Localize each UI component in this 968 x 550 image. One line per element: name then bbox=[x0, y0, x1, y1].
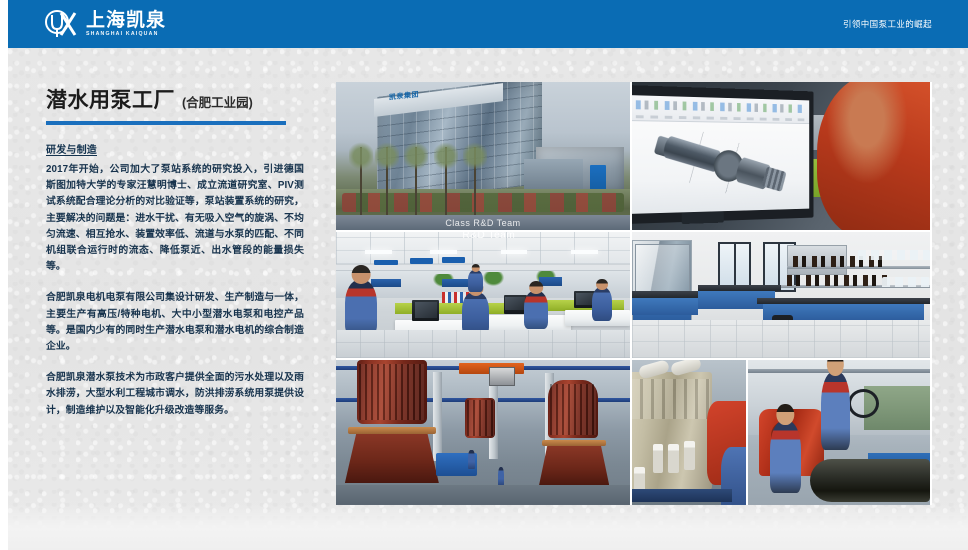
page-title: 潜水用泵工厂 (合肥工业园) bbox=[46, 84, 304, 114]
brand-text: 上海凯泉 SHANGHAI KAIQUAN bbox=[86, 11, 166, 37]
slide-page: 上海凯泉 SHANGHAI KAIQUAN 引领中国泵工业的崛起 潜水用泵工厂 … bbox=[0, 0, 968, 550]
paragraph-company: 合肥凯泉电机电泵有限公司集设计研发、生产制造与一体，主要生产有高压/特种电机、大… bbox=[46, 290, 304, 355]
office-worker bbox=[468, 270, 483, 293]
section-heading: 研发与制造 bbox=[46, 141, 304, 156]
page-body: 潜水用泵工厂 (合肥工业园) 研发与制造 2017年开始，公司加大了泵站系统的研… bbox=[8, 48, 968, 550]
office-worker bbox=[592, 287, 613, 321]
page-title-main: 潜水用泵工厂 bbox=[46, 84, 175, 114]
header-tagline: 引领中国泵工业的崛起 bbox=[843, 18, 968, 30]
paragraph-research: 2017年开始，公司加大了泵站系统的研究投入，引进德国斯图加特大学的专家汪慧明博… bbox=[46, 162, 304, 275]
page-title-sub: (合肥工业园) bbox=[182, 92, 253, 111]
bottom-gradient bbox=[8, 504, 968, 550]
office-worker bbox=[462, 292, 488, 335]
title-underline-rule bbox=[46, 121, 286, 125]
brand-logo[interactable]: 上海凯泉 SHANGHAI KAIQUAN bbox=[8, 9, 166, 39]
photo-laboratory bbox=[632, 232, 930, 358]
photo-factory-pumps bbox=[336, 360, 630, 505]
photo-diesel-engine bbox=[632, 360, 746, 505]
worker-standing bbox=[821, 372, 850, 450]
photo-pair-bottom-right bbox=[632, 360, 930, 505]
page-header: 上海凯泉 SHANGHAI KAIQUAN 引领中国泵工业的崛起 bbox=[8, 0, 968, 48]
office-worker bbox=[524, 291, 548, 329]
photo-rd-office: R&D Team bbox=[336, 232, 630, 358]
text-column: 潜水用泵工厂 (合肥工业园) 研发与制造 2017年开始，公司加大了泵站系统的研… bbox=[46, 84, 304, 419]
worker-kneeling bbox=[770, 421, 801, 494]
photo-cad-workstation bbox=[632, 82, 930, 230]
kaiquan-kx-monogram-icon bbox=[44, 9, 78, 39]
photo-office-building: 凯泉集团 Class R&D Team bbox=[336, 82, 630, 230]
office-banner-text: R&D Team bbox=[424, 232, 553, 241]
brand-name-en: SHANGHAI KAIQUAN bbox=[86, 31, 166, 37]
building-banner-text: Class R&D Team bbox=[336, 215, 630, 230]
paragraph-services: 合肥凯泉潜水泵技术为市政客户提供全面的污水处理以及雨水排涝，大型水利工程城市调水… bbox=[46, 370, 304, 419]
photo-collage: 凯泉集团 Class R&D Team bbox=[336, 82, 932, 505]
office-worker bbox=[345, 280, 377, 335]
brand-name-cn: 上海凯泉 bbox=[86, 11, 166, 31]
photo-workers-pump bbox=[748, 360, 930, 505]
